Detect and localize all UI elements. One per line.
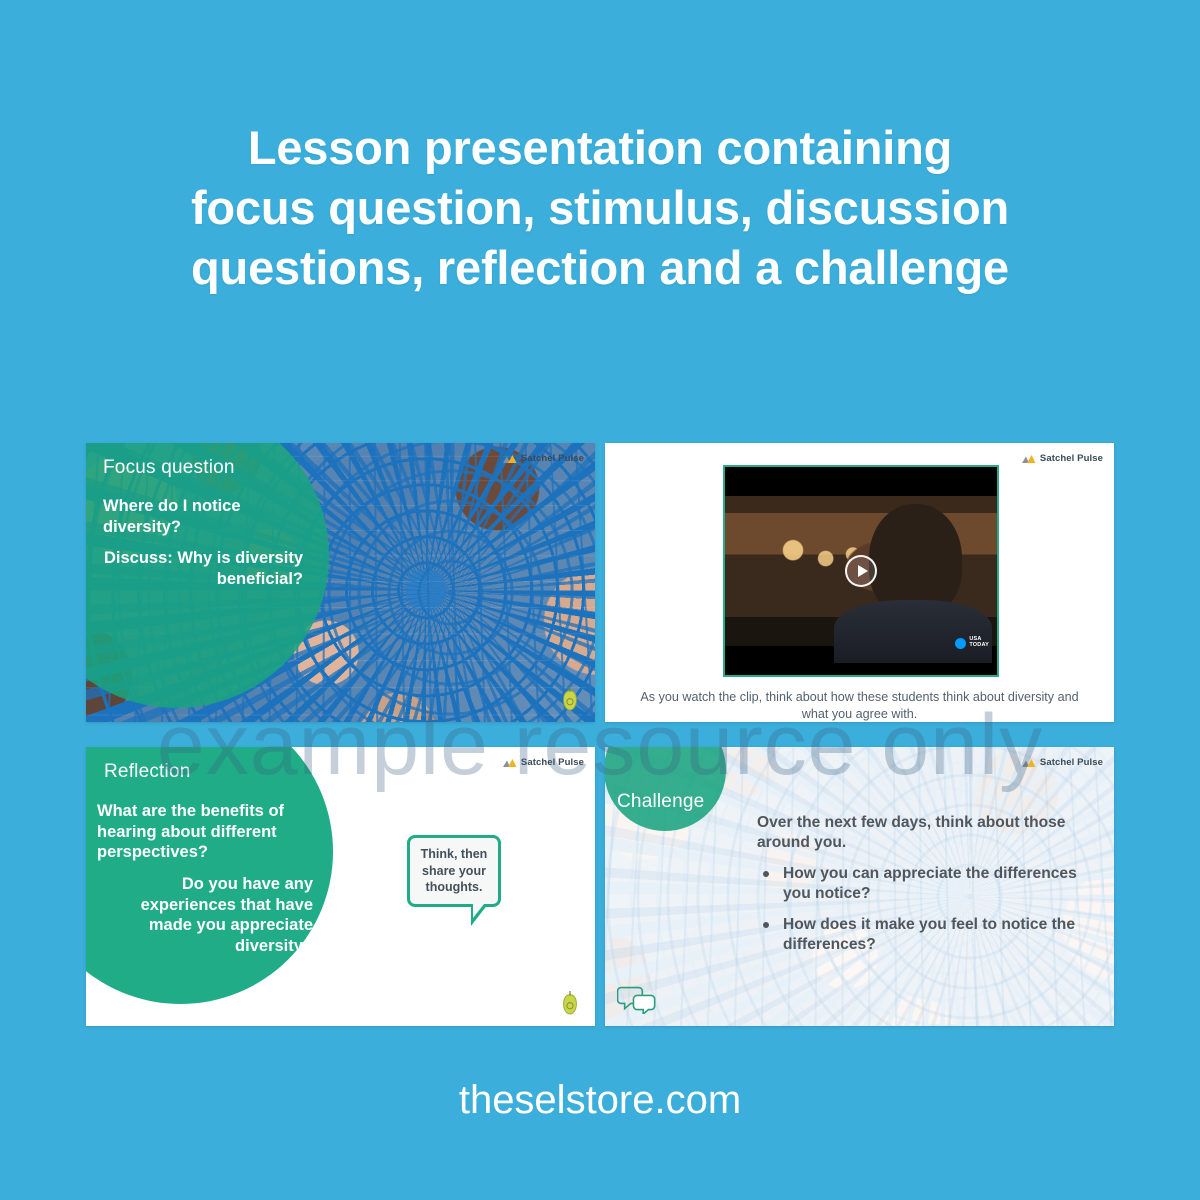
page-title-line-2: focus question, stimulus, discussion: [0, 178, 1200, 238]
video-subject-torso: [834, 600, 992, 662]
reflection-question-2: Do you have any experiences that have ma…: [97, 874, 313, 957]
slide-body-focus-question: Where do I notice diversity? Discuss: Wh…: [103, 496, 303, 590]
speech-bubble: Think, then share your thoughts.: [407, 835, 501, 907]
speech-bubble-text: Think, then share your thoughts.: [410, 846, 498, 896]
page-title-line-1: Lesson presentation containing: [0, 118, 1200, 178]
mountain-icon: [1021, 453, 1036, 464]
satchel-pulse-logo: Satchel Pulse: [502, 453, 584, 464]
video-caption: As you watch the clip, think about how t…: [635, 689, 1084, 722]
satchel-pulse-logo-text: Satchel Pulse: [521, 453, 584, 464]
satchel-pulse-logo-text: Satchel Pulse: [521, 757, 584, 768]
play-triangle: [858, 565, 868, 577]
satchel-pulse-logo-text: Satchel Pulse: [1040, 453, 1103, 464]
challenge-bullet-2: How does it make you feel to notice the …: [757, 915, 1087, 955]
play-button-icon[interactable]: [845, 555, 877, 587]
page-title: Lesson presentation containing focus que…: [0, 118, 1200, 298]
speech-bubbles-icon: [617, 984, 657, 1014]
usa-today-line-2: TODAY: [969, 643, 989, 649]
slide-stimulus[interactable]: USA TODAY As you watch the clip, think a…: [605, 443, 1114, 722]
pear-icon: [559, 990, 581, 1016]
slide-kicker-focus-question: Focus question: [103, 457, 235, 479]
satchel-pulse-logo: Satchel Pulse: [502, 757, 584, 768]
reflection-question-1: What are the benefits of hearing about d…: [97, 802, 284, 861]
usa-today-dot-icon: [955, 638, 966, 649]
pear-icon: [559, 686, 581, 712]
slide-kicker-challenge: Challenge: [617, 791, 704, 813]
slide-thumbnail-grid: Focus question Where do I notice diversi…: [86, 443, 1114, 1026]
footer-site-url: theselstore.com: [0, 1078, 1200, 1123]
mountain-icon: [502, 757, 517, 768]
usa-today-watermark: USA TODAY: [955, 637, 989, 649]
challenge-intro: Over the next few days, think about thos…: [757, 814, 1065, 851]
focus-question-2: Discuss: Why is diversity beneficial?: [103, 548, 303, 589]
speech-bubble-tail-inner: [473, 904, 484, 918]
satchel-pulse-logo: Satchel Pulse: [1021, 757, 1103, 768]
slide-body-reflection: What are the benefits of hearing about d…: [97, 801, 313, 956]
usa-today-label: USA TODAY: [969, 637, 989, 649]
video-player[interactable]: USA TODAY: [723, 465, 999, 677]
slide-focus-question[interactable]: Focus question Where do I notice diversi…: [86, 443, 595, 722]
challenge-bullet-list: How you can appreciate the differences y…: [757, 864, 1087, 955]
satchel-pulse-logo-text: Satchel Pulse: [1040, 757, 1103, 768]
mountain-icon: [1021, 757, 1036, 768]
slide-body-challenge: Over the next few days, think about thos…: [757, 813, 1087, 955]
focus-question-1: Where do I notice diversity?: [103, 497, 241, 536]
slide-reflection[interactable]: Reflection What are the benefits of hear…: [86, 747, 595, 1026]
slide-challenge[interactable]: Challenge Over the next few days, think …: [605, 747, 1114, 1026]
mountain-icon: [502, 453, 517, 464]
slide-kicker-reflection: Reflection: [104, 761, 191, 783]
page-title-line-3: questions, reflection and a challenge: [0, 238, 1200, 298]
satchel-pulse-logo: Satchel Pulse: [1021, 453, 1103, 464]
challenge-bullet-1: How you can appreciate the differences y…: [757, 864, 1087, 904]
